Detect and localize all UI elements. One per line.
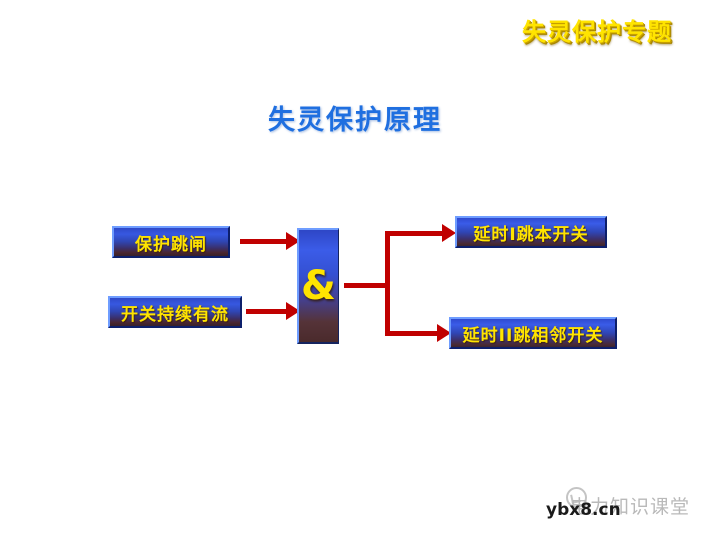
connector-input1-to-gate: [240, 239, 292, 244]
arrowhead-output1: [442, 224, 456, 242]
slide-canvas: 失灵保护专题 失灵保护原理 保护跳闸 开关持续有流 & 延时I跳本开关 延时II…: [0, 0, 720, 540]
output-box-delay-2-trip-adjacent-breaker: 延时II跳相邻开关: [449, 317, 617, 349]
input-box-protection-trip: 保护跳闸: [112, 226, 230, 258]
input-box-breaker-current: 开关持续有流: [108, 296, 242, 328]
output-box-label: 延时I跳本开关: [473, 220, 588, 245]
page-title: 失灵保护原理: [268, 98, 442, 137]
and-gate-block: &: [297, 228, 339, 344]
output-box-delay-1-trip-own-breaker: 延时I跳本开关: [455, 216, 607, 248]
corner-title: 失灵保护专题: [522, 12, 672, 47]
connector-trunk-to-output1: [385, 231, 448, 236]
input-box-label: 开关持续有流: [121, 300, 229, 325]
and-gate-symbol: &: [301, 266, 336, 306]
connector-gate-output-stub: [344, 283, 390, 288]
connector-branch-trunk: [385, 231, 390, 336]
watermark-site: ybx8.cn: [546, 500, 621, 520]
input-box-label: 保护跳闸: [135, 230, 207, 255]
output-box-label: 延时II跳相邻开关: [463, 321, 604, 346]
connector-trunk-to-output2: [385, 331, 443, 336]
